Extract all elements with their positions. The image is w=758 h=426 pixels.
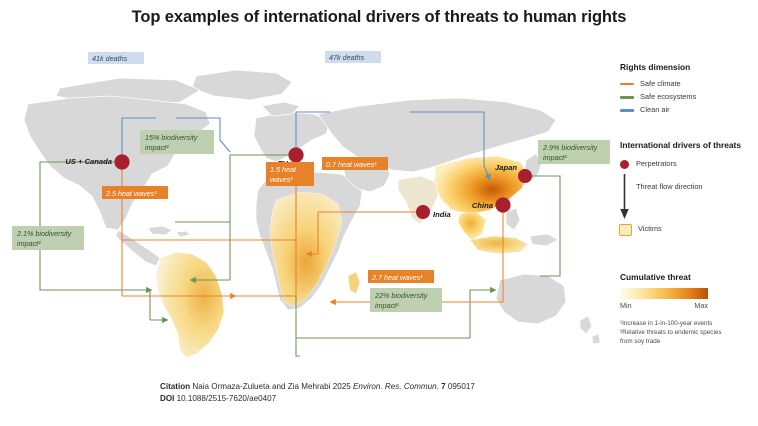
world-map-svg: US + Canada EU India China Japan 41k dea…: [0, 40, 612, 370]
citation-journal: Environ. Res. Commun.: [353, 382, 439, 391]
annotation-41k-deaths-text: 41k deaths: [92, 54, 128, 63]
threat-flow-arrow-icon: [620, 174, 629, 220]
node-label-japan: Japan: [495, 163, 517, 172]
annotation-21pct-biodiversity: 2.1% biodiversityimpact²: [12, 226, 84, 250]
colorbar-tick-labels: Min Max: [620, 301, 708, 310]
legend-international-drivers: International drivers of threats Perpetr…: [620, 140, 754, 236]
perpetrator-node-eu[interactable]: [288, 147, 303, 162]
annotation-27-heat-waves-text: 2.7 heat waves¹: [371, 273, 423, 282]
clean-air-swatch-icon: [620, 109, 634, 111]
legend-label-threat-flow: Threat flow direction: [636, 182, 703, 192]
perpetrator-dot-icon: [620, 160, 629, 169]
annotation-15-heat-waves: 1.5 heatwaves¹: [266, 162, 314, 186]
cumulative-threat-colorbar: [620, 288, 708, 299]
legend-label-victims: Victims: [638, 225, 662, 234]
citation-volume: 7: [439, 382, 446, 391]
legend-rights-dimension: Rights dimension Safe climate Safe ecosy…: [620, 62, 754, 120]
safe-ecosystems-swatch-icon: [620, 96, 634, 98]
doi-line: DOI 10.1088/2515-7620/ae0407: [160, 393, 475, 405]
legend-item-safe-ecosystems: Safe ecosystems: [620, 93, 754, 102]
annotation-25-heat-waves: 2.5 heat waves¹: [102, 186, 168, 199]
annotation-07-heat-waves: 0.7 heat waves¹: [322, 157, 388, 170]
annotation-07-heat-waves-text: 0.7 heat waves¹: [326, 160, 377, 169]
world-map-figure: US + Canada EU India China Japan 41k dea…: [0, 40, 612, 370]
footnotes-block: ¹Increase in 1-in-100-year events ²Relat…: [620, 320, 758, 347]
annotation-47k-deaths-text: 47k deaths: [329, 53, 365, 62]
perpetrator-node-india[interactable]: [416, 205, 430, 219]
colorbar-heading: Cumulative threat: [620, 272, 754, 283]
annotation-15pct-biodiversity: 15% biodiversityimpact²: [140, 130, 214, 154]
annotation-27-heat-waves: 2.7 heat waves¹: [368, 270, 434, 283]
citation-authors: Naia Ormaza-Zulueta and Zia Mehrabi 2025: [190, 382, 353, 391]
annotation-41k-deaths: 41k deaths: [88, 52, 144, 64]
perpetrator-node-china[interactable]: [495, 197, 510, 212]
citation-block: Citation Naia Ormaza-Zulueta and Zia Meh…: [160, 381, 475, 405]
doi-value: 10.1088/2515-7620/ae0407: [174, 394, 276, 403]
page-title: Top examples of international drivers of…: [0, 8, 758, 27]
citation-article: 095017: [446, 382, 475, 391]
node-label-us-canada: US + Canada: [65, 157, 112, 166]
footnote-2-cont: from soy trade: [620, 338, 758, 347]
citation-line: Citation Naia Ormaza-Zulueta and Zia Meh…: [160, 381, 475, 393]
legend-item-safe-climate: Safe climate: [620, 80, 754, 89]
safe-climate-swatch-icon: [620, 83, 634, 85]
legend-item-threat-flow: Threat flow direction: [620, 174, 754, 220]
legend-item-clean-air: Clean air: [620, 106, 754, 115]
legend-label-perpetrators: Perpetrators: [636, 160, 677, 169]
victims-square-icon: [619, 224, 632, 236]
legend-item-perpetrators: Perpetrators: [620, 160, 754, 169]
legend-cumulative-threat: Cumulative threat Min Max: [620, 272, 754, 310]
annotation-47k-deaths: 47k deaths: [325, 51, 381, 63]
annotation-29pct-biodiversity: 2.9% biodiversityimpact²: [538, 140, 610, 164]
legend-label-safe-climate: Safe climate: [640, 80, 681, 89]
perpetrator-node-us-canada[interactable]: [114, 154, 129, 169]
legend-label-safe-ecosystems: Safe ecosystems: [640, 93, 696, 102]
node-label-india: India: [433, 210, 451, 219]
citation-key: Citation: [160, 382, 190, 391]
infographic-page: Top examples of international drivers of…: [0, 0, 758, 426]
colorbar-max-label: Max: [694, 301, 708, 310]
legend-label-clean-air: Clean air: [640, 106, 670, 115]
doi-key: DOI: [160, 394, 174, 403]
node-label-china: China: [472, 201, 493, 210]
annotation-22pct-biodiversity: 22% biodiversityimpact²: [370, 288, 442, 312]
footnote-1: ¹Increase in 1-in-100-year events: [620, 320, 758, 329]
legend-item-victims: Victims: [620, 224, 754, 236]
legend-rights-heading: Rights dimension: [620, 62, 754, 73]
legend-drivers-heading: International drivers of threats: [620, 140, 754, 151]
annotation-25-heat-waves-text: 2.5 heat waves¹: [105, 189, 157, 198]
perpetrator-node-japan[interactable]: [518, 169, 532, 183]
colorbar-min-label: Min: [620, 301, 632, 310]
footnote-2: ²Relative threats to endemic species: [620, 329, 758, 338]
